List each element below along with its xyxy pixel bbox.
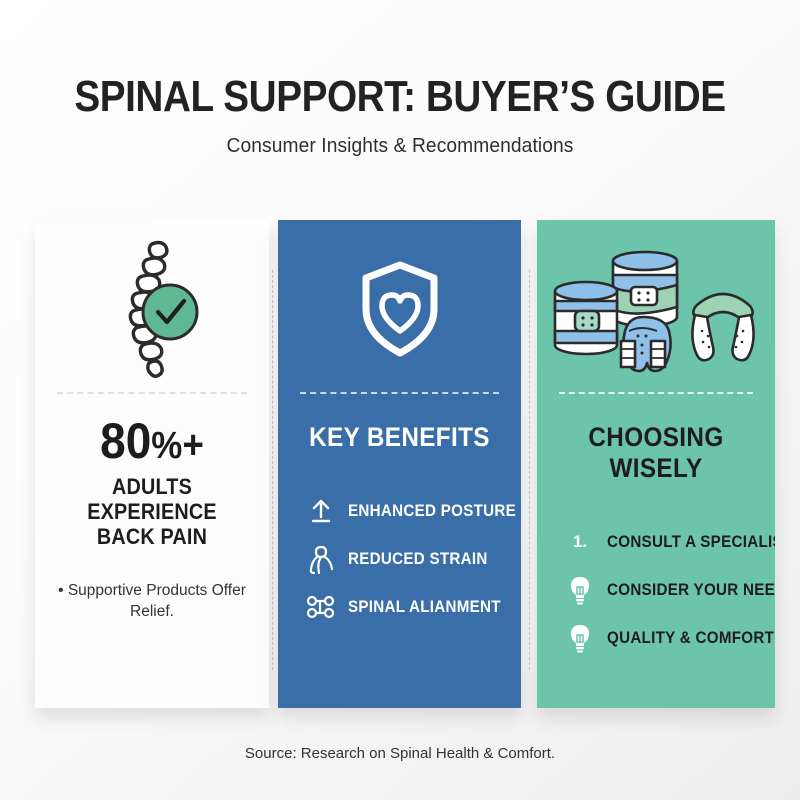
card-divider-benefits (300, 392, 499, 394)
card-benefits: KEY BENEFITS ENHANCED POSTURE (278, 220, 521, 708)
list-item: SPINAL ALIANMENT (304, 583, 521, 631)
infographic-header: SPINAL SUPPORT: BUYER’S GUIDE Consumer I… (0, 0, 800, 158)
support-braces-icon (547, 239, 765, 379)
stat-value: 80 (100, 413, 151, 469)
list-item-label: CONSIDER YOUR NEEDS (607, 581, 775, 600)
list-item-label: QUALITY & COMFORT (607, 629, 774, 648)
card-divider-choosing (559, 392, 753, 394)
list-item-label: REDUCED STRAIN (348, 550, 488, 569)
stat-caption-line-2: BACK PAIN (47, 524, 258, 549)
choosing-list: 1. CONSULT A SPECIALIST CONSIDER YOUR NE… (537, 518, 775, 662)
up-arrow-icon (304, 498, 338, 524)
card-heading-benefits: KEY BENEFITS (290, 422, 509, 453)
support-braces-illustration (537, 220, 775, 392)
list-item: QUALITY & COMFORT (563, 614, 775, 662)
shield-heart-icon (358, 259, 442, 359)
lightbulb-icon (563, 623, 597, 653)
stat-unit: % (151, 425, 182, 467)
stat-suffix: + (182, 423, 203, 467)
stat-bullet: • Supportive Products Offer Relief. (35, 581, 269, 622)
stat-caption-line-1: ADULTS EXPERIENCE (47, 474, 258, 524)
column-divider-1 (272, 270, 273, 670)
lightbulb-icon (563, 575, 597, 605)
list-item: 1. CONSULT A SPECIALIST (563, 518, 775, 566)
list-item-label: CONSULT A SPECIALIST (607, 533, 775, 552)
stat-headline: 80%+ (44, 416, 259, 466)
list-item-label: ENHANCED POSTURE (348, 502, 516, 521)
column-divider-2 (529, 270, 530, 670)
footer-source: Source: Research on Spinal Health & Comf… (0, 745, 800, 762)
spine-check-icon (98, 234, 206, 384)
cards-row: 80%+ ADULTS EXPERIENCE BACK PAIN • Suppo… (0, 220, 800, 708)
stat-caption: ADULTS EXPERIENCE BACK PAIN (47, 474, 258, 549)
list-item: ENHANCED POSTURE (304, 487, 521, 535)
list-item-number: 1. (573, 532, 587, 552)
list-item: REDUCED STRAIN (304, 535, 521, 583)
card-awareness: 80%+ ADULTS EXPERIENCE BACK PAIN • Suppo… (35, 220, 269, 708)
posture-person-icon (304, 544, 338, 574)
list-item-label: SPINAL ALIANMENT (348, 598, 501, 617)
shield-heart-illustration (278, 220, 521, 392)
spine-check-illustration (35, 220, 269, 392)
check-circle (143, 285, 197, 339)
alignment-nodes-icon (304, 595, 338, 619)
benefits-list: ENHANCED POSTURE REDUCED STRAIN (278, 487, 521, 631)
page-title: SPINAL SUPPORT: BUYER’S GUIDE (48, 74, 752, 121)
page-subtitle: Consumer Insights & Recommendations (16, 135, 784, 158)
list-item: CONSIDER YOUR NEEDS (563, 566, 775, 614)
card-divider-awareness (57, 392, 247, 394)
card-heading-choosing: CHOOSING WISELY (549, 422, 763, 484)
number-one-marker: 1. (563, 532, 597, 552)
card-choosing: CHOOSING WISELY 1. CONSULT A SPECIALIST (537, 220, 775, 708)
